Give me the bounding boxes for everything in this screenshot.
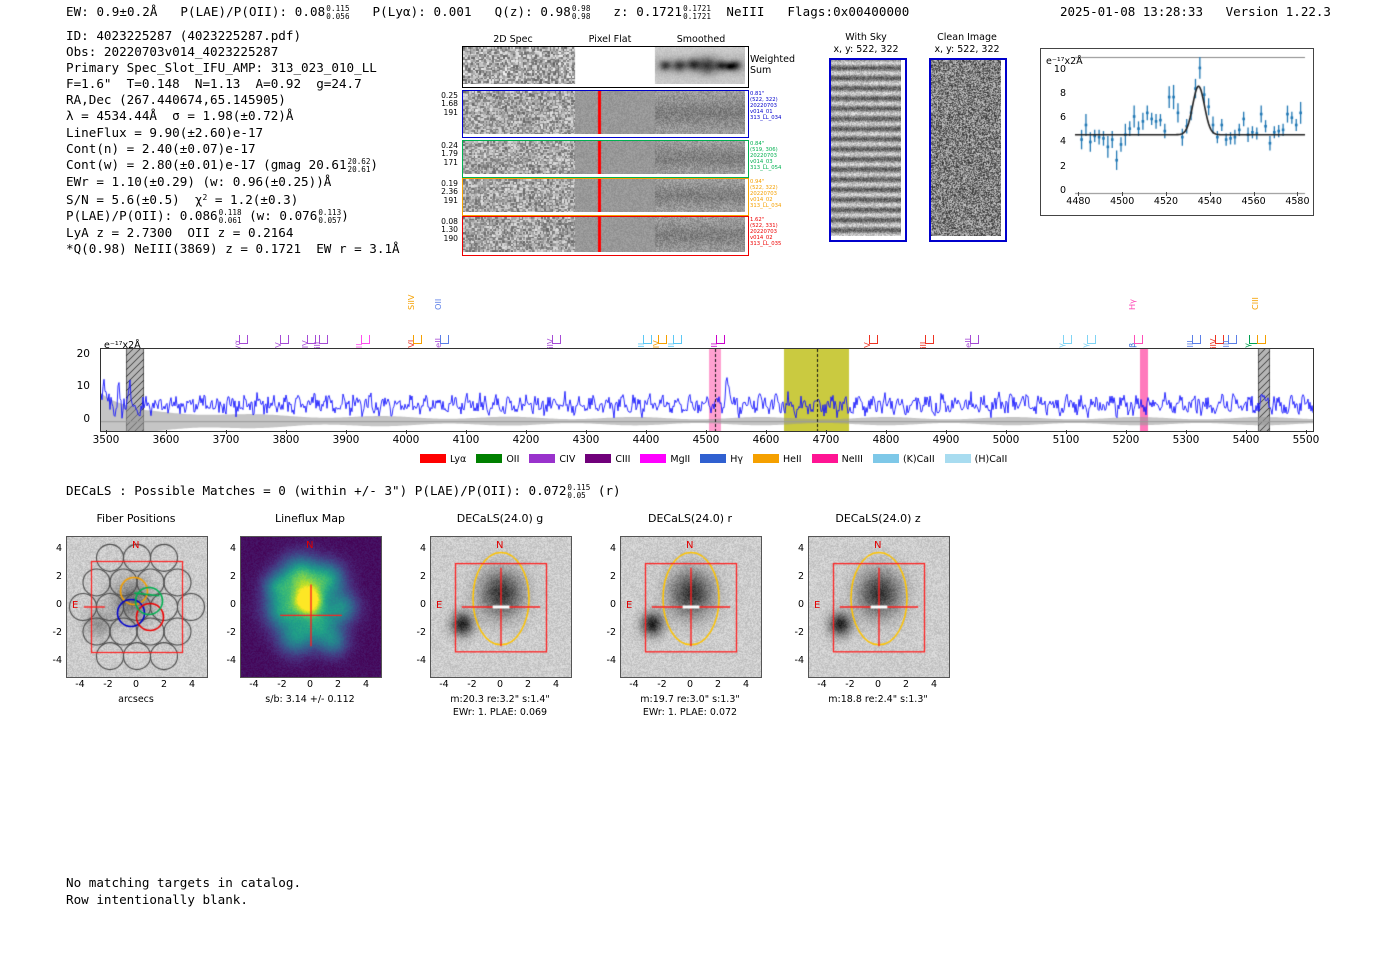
zoom-y-tick: 10 — [1036, 64, 1066, 75]
legend-swatch — [812, 454, 838, 463]
cutout-caption-secondary: EWr: 1. PLAE: 0.069 — [400, 707, 600, 719]
footer-line2: Row intentionally blank. — [66, 892, 248, 907]
info-seeing: F=1.6" T=0.148 N=1.13 A=0.92 g=24.7 — [66, 76, 362, 91]
legend-label: (H)CaII — [975, 454, 1008, 465]
zoom-y-tick: 0 — [1036, 185, 1066, 196]
footer-note: No matching targets in catalog. Row inte… — [66, 874, 301, 908]
spectrum-x-tickmark — [826, 430, 827, 434]
cutout-y-tick: -2 — [44, 627, 62, 638]
legend-item: NeIII — [812, 454, 863, 465]
cutout-x-tick: -2 — [460, 679, 484, 690]
zoom-spectrum-plot — [1040, 48, 1314, 216]
header-plae-poii: P(LAE)/P(OII): 0.08 — [180, 4, 325, 19]
legend-item: CIV — [529, 454, 575, 465]
cutout-x-tick: 4 — [180, 679, 204, 690]
info-cont-n: Cont(n) = 2.40(±0.07)e-17 — [66, 141, 256, 156]
info-ewr: EWr = 1.10(±0.29) (w: 0.96(±0.25))Å — [66, 174, 331, 189]
cutout-y-tick: -4 — [598, 655, 616, 666]
spectrum-x-tickmark — [946, 430, 947, 434]
spectrum-x-tickmark — [526, 430, 527, 434]
legend-swatch — [945, 454, 971, 463]
cutout-y-tick: 0 — [786, 599, 804, 610]
cutout-x-tick: 2 — [894, 679, 918, 690]
emission-line-label: SiIV — [406, 295, 416, 311]
emission-line-bracket — [413, 335, 422, 344]
spectrum-y-tick: 10 — [66, 380, 90, 392]
zoom-x-tickmark — [1210, 192, 1211, 196]
fiber-2d-spectrum — [462, 178, 749, 216]
spec2d-title-2dspec: 2D Spec — [478, 34, 548, 45]
cutout-caption-primary: m:20.3 re:3.2" s:1.4" — [400, 694, 600, 706]
cutout-panel-title: Fiber Positions — [46, 512, 226, 525]
emission-line-bracket — [925, 335, 934, 344]
cutout-y-tick: -2 — [786, 627, 804, 638]
cutout-panel-image — [66, 536, 208, 678]
spectrum-legend: LyαOIICIVCIIIMgIIHγHeIINeIII(K)CaII(H)Ca… — [420, 447, 1017, 466]
cutout-y-tick: 4 — [408, 543, 426, 554]
spectrum-x-tick: 4800 — [863, 434, 909, 446]
spectrum-x-tickmark — [106, 430, 107, 434]
spec2d-title-smoothed: Smoothed — [663, 34, 739, 45]
cutout-y-tick: 2 — [408, 571, 426, 582]
spectrum-y-tick: 20 — [66, 348, 90, 360]
cutout-y-tick: -2 — [218, 627, 236, 638]
fiber-stat-value: 191 — [426, 197, 458, 205]
header-version: Version 1.22.3 — [1226, 4, 1331, 19]
cutout-panel-image — [430, 536, 572, 678]
cutout-y-tick: 0 — [44, 599, 62, 610]
zoom-y-tick: 8 — [1036, 88, 1066, 99]
spectrum-x-tick: 4600 — [743, 434, 789, 446]
zoom-x-tick: 4520 — [1146, 196, 1186, 207]
decals-match-line: DECaLS : Possible Matches = 0 (within +/… — [66, 483, 621, 500]
cutout-y-tick: 0 — [408, 599, 426, 610]
spectrum-x-tick: 3900 — [323, 434, 369, 446]
emission-line-bracket — [1228, 335, 1237, 344]
legend-label: HeII — [783, 454, 802, 465]
zoom-y-tick: 4 — [1036, 136, 1066, 147]
compass-north-label: N — [874, 540, 881, 551]
cutout-x-tick: -2 — [96, 679, 120, 690]
cutout-xlabel: arcsecs — [66, 694, 206, 706]
weighted-sum-strip — [462, 46, 749, 88]
spectrum-x-tickmark — [1306, 430, 1307, 434]
spectrum-x-tickmark — [766, 430, 767, 434]
cutout-x-tick: -2 — [838, 679, 862, 690]
spectrum-x-tickmark — [346, 430, 347, 434]
spectrum-unit-label: e⁻¹⁷x2Å — [104, 340, 141, 351]
spectrum-y-tick: 0 — [66, 413, 90, 425]
header-z-range: 0.17210.1721 — [683, 5, 711, 21]
spectrum-x-tick: 3500 — [83, 434, 129, 446]
full-spectrum-plot — [100, 348, 1314, 432]
fiber-row-annotation: 0.81"(522, 322)20220703v014_01313_LL_034 — [750, 91, 806, 121]
cutout-x-tick: 0 — [488, 679, 512, 690]
spectrum-x-tickmark — [1126, 430, 1127, 434]
spectrum-x-tick: 3800 — [263, 434, 309, 446]
emission-line-bracket — [1063, 335, 1072, 344]
legend-swatch — [476, 454, 502, 463]
cutout-panel-image — [808, 536, 950, 678]
spectrum-x-tickmark — [286, 430, 287, 434]
emission-line-bracket — [440, 335, 449, 344]
spectrum-x-tick: 4700 — [803, 434, 849, 446]
info-spec-slot: Primary Spec_Slot_IFU_AMP: 313_023_010_L… — [66, 60, 377, 75]
cutout-y-tick: -2 — [408, 627, 426, 638]
cutout-x-tick: -4 — [622, 679, 646, 690]
info-obs: Obs: 20220703v014_4023225287 — [66, 44, 278, 59]
spectrum-x-tick: 5500 — [1283, 434, 1329, 446]
legend-label: NeIII — [842, 454, 863, 465]
header-summary-line: EW: 0.9±0.2Å P(LAE)/P(OII): 0.080.1150.0… — [66, 4, 909, 21]
legend-label: (K)CaII — [903, 454, 935, 465]
footer-line1: No matching targets in catalog. — [66, 875, 301, 890]
cutout-y-tick: 2 — [44, 571, 62, 582]
zoom-x-tickmark — [1254, 192, 1255, 196]
fiber-row-annotation: 0.84"(519, 306)20220703v014_03313_LL_054 — [750, 141, 806, 171]
cutout-panel-image — [620, 536, 762, 678]
spectrum-x-tick: 4400 — [623, 434, 669, 446]
emission-line-label: CIII — [1250, 297, 1260, 310]
compass-east-label: E — [72, 600, 78, 611]
emission-line-bracket — [970, 335, 979, 344]
zoom-y-tick: 2 — [1036, 161, 1066, 172]
info-snr: S/N = 5.6(±0.5) χ2 = 1.2(±0.3) — [66, 192, 298, 207]
legend-label: Hγ — [730, 454, 743, 465]
spectrum-x-tick: 5400 — [1223, 434, 1269, 446]
fiber-row-annotation: 1.62"(522, 331)20220703v014_02313_LL_035 — [750, 217, 806, 247]
zoom-x-tick: 4540 — [1190, 196, 1230, 207]
cutout-panel-image — [240, 536, 382, 678]
emission-line-bracket — [552, 335, 561, 344]
spectrum-x-tickmark — [586, 430, 587, 434]
legend-label: Lyα — [450, 454, 466, 465]
legend-label: CIV — [559, 454, 575, 465]
cutout-x-tick: -4 — [242, 679, 266, 690]
fiber-stat-value: 171 — [426, 159, 458, 167]
fiber-2d-spectrum — [462, 90, 749, 138]
fiber-2d-spectrum — [462, 216, 749, 256]
emission-line-label: OII — [433, 299, 443, 310]
fiber-2d-spectrum — [462, 140, 749, 178]
spectrum-x-tickmark — [406, 430, 407, 434]
compass-east-label: E — [814, 600, 820, 611]
zoom-x-tickmark — [1166, 192, 1167, 196]
emission-line-bracket — [1087, 335, 1096, 344]
cutout-y-tick: 2 — [598, 571, 616, 582]
cutout-y-tick: -4 — [786, 655, 804, 666]
emission-line-bracket — [1257, 335, 1266, 344]
fiber-annotation-line: 313_LL_035 — [750, 241, 806, 247]
legend-label: CIII — [615, 454, 630, 465]
fiber-row-stats: 0.081.30190 — [426, 218, 458, 243]
compass-north-label: N — [686, 540, 693, 551]
emission-line-bracket — [361, 335, 370, 344]
zoom-x-tick: 4560 — [1234, 196, 1274, 207]
cutout-y-tick: -2 — [598, 627, 616, 638]
cutout-y-tick: 0 — [598, 599, 616, 610]
legend-item: OII — [476, 454, 519, 465]
cutout-caption-primary: s/b: 3.14 +/- 0.112 — [210, 694, 410, 706]
fiber-row-stats: 0.192.36191 — [426, 180, 458, 205]
spec2d-title-pixelflat: Pixel Flat — [572, 34, 648, 45]
cutout-x-tick: 0 — [124, 679, 148, 690]
spectrum-x-tickmark — [886, 430, 887, 434]
spectrum-x-tick: 4000 — [383, 434, 429, 446]
cutout-y-tick: 0 — [218, 599, 236, 610]
legend-item: HeII — [753, 454, 802, 465]
cleanimage-label: Clean Image x, y: 522, 322 — [912, 32, 1022, 55]
spectrum-x-tickmark — [1246, 430, 1247, 434]
legend-swatch — [753, 454, 779, 463]
info-plae-poii: P(LAE)/P(OII): 0.0860.1180.061 (w: 0.076… — [66, 208, 349, 223]
cutout-y-tick: 4 — [218, 543, 236, 554]
compass-east-label: E — [436, 600, 442, 611]
spectrum-x-tick: 4900 — [923, 434, 969, 446]
cutout-x-tick: 2 — [152, 679, 176, 690]
zoom-y-tick: 6 — [1036, 112, 1066, 123]
spectrum-x-tick: 4300 — [563, 434, 609, 446]
info-redshifts: LyA z = 2.7300 OII z = 0.2164 — [66, 225, 293, 240]
cutout-x-tick: 0 — [298, 679, 322, 690]
header-redshift: z: 0.1721 — [613, 4, 682, 19]
header-species: NeIII — [726, 4, 764, 19]
cutout-y-tick: -4 — [408, 655, 426, 666]
cutout-x-tick: -2 — [270, 679, 294, 690]
info-lineflux: LineFlux = 9.90(±2.60)e-17 — [66, 125, 263, 140]
cutout-x-tick: 2 — [326, 679, 350, 690]
cutout-x-tick: 4 — [734, 679, 758, 690]
spectrum-x-tick: 5100 — [1043, 434, 1089, 446]
legend-item: Hγ — [700, 454, 743, 465]
info-cont-w: Cont(w) = 2.80(±0.01)e-17 (gmag 20.6120.… — [66, 157, 378, 172]
header-qz: Q(z): 0.98 — [495, 4, 571, 19]
source-info-block: ID: 4023225287 (4023225287.pdf) Obs: 202… — [66, 28, 400, 257]
cutout-x-tick: 0 — [866, 679, 890, 690]
withsky-image — [829, 58, 907, 242]
cutout-caption-primary: m:19.7 re:3.0" s:1.3" — [590, 694, 790, 706]
info-best-solution: *Q(0.98) NeIII(3869) z = 0.1721 EW r = 3… — [66, 241, 400, 256]
cutout-y-tick: -4 — [44, 655, 62, 666]
spectrum-x-tick: 4200 — [503, 434, 549, 446]
compass-north-label: N — [496, 540, 503, 551]
cutout-x-tick: 0 — [678, 679, 702, 690]
header-meta: 2025-01-08 13:28:33 Version 1.22.3 — [1060, 4, 1331, 19]
header-flags: Flags:0x00400000 — [787, 4, 909, 19]
cutout-caption-secondary: EWr: 1. PLAE: 0.072 — [590, 707, 790, 719]
emission-line-bracket — [280, 335, 289, 344]
cutout-x-tick: -4 — [68, 679, 92, 690]
spectrum-x-tick: 5000 — [983, 434, 1029, 446]
cutout-y-tick: 2 — [218, 571, 236, 582]
legend-item: Lyα — [420, 454, 466, 465]
spectrum-x-tickmark — [1006, 430, 1007, 434]
spectrum-x-tick: 3600 — [143, 434, 189, 446]
compass-north-label: N — [132, 540, 139, 551]
spectrum-x-tickmark — [706, 430, 707, 434]
zoom-x-tickmark — [1078, 192, 1079, 196]
fiber-row-stats: 0.241.79171 — [426, 142, 458, 167]
cutout-y-tick: 4 — [598, 543, 616, 554]
spectrum-x-tickmark — [1186, 430, 1187, 434]
zoom-x-tickmark — [1297, 192, 1298, 196]
legend-swatch — [585, 454, 611, 463]
emission-line-label: Hγ — [1127, 299, 1137, 310]
emission-line-bracket — [869, 335, 878, 344]
fiber-annotation-line: 313_LL_034 — [750, 115, 806, 121]
withsky-label: With Sky x, y: 522, 322 — [818, 32, 914, 55]
cutout-caption-primary: m:18.8 re:2.4" s:1.3" — [778, 694, 978, 706]
legend-label: OII — [506, 454, 519, 465]
header-ew: EW: 0.9±0.2Å — [66, 4, 158, 19]
cutout-panel-title: Lineflux Map — [220, 512, 400, 525]
cutout-panel-title: DECaLS(24.0) r — [600, 512, 780, 525]
legend-item: (K)CaII — [873, 454, 935, 465]
fiber-annotation-line: 313_LL_054 — [750, 165, 806, 171]
emission-line-bracket — [716, 335, 725, 344]
legend-swatch — [873, 454, 899, 463]
legend-item: CIII — [585, 454, 630, 465]
zoom-x-tickmark — [1122, 192, 1123, 196]
emission-line-bracket — [239, 335, 248, 344]
spectrum-x-tick: 4100 — [443, 434, 489, 446]
header-plae-range: 0.1150.056 — [326, 5, 349, 21]
legend-label: MgII — [670, 454, 690, 465]
emission-line-bracket — [673, 335, 682, 344]
compass-east-label: E — [626, 600, 632, 611]
info-id: ID: 4023225287 (4023225287.pdf) — [66, 28, 301, 43]
spectrum-x-tickmark — [226, 430, 227, 434]
spectrum-x-tickmark — [1066, 430, 1067, 434]
cleanimage-image — [929, 58, 1007, 242]
spectrum-x-tickmark — [646, 430, 647, 434]
fiber-row-stats: 0.251.68191 — [426, 92, 458, 117]
spectrum-x-tickmark — [466, 430, 467, 434]
spectrum-x-tick: 5200 — [1103, 434, 1149, 446]
cutout-x-tick: 4 — [354, 679, 378, 690]
info-wavelength: λ = 4534.44Å σ = 1.98(±0.72)Å — [66, 108, 293, 123]
fiber-row-annotation: 0.94"(522, 322)20220703v014_02313_LL_034 — [750, 179, 806, 209]
spectrum-x-tick: 3700 — [203, 434, 249, 446]
legend-swatch — [700, 454, 726, 463]
emission-line-bracket — [319, 335, 328, 344]
info-radec: RA,Dec (267.440674,65.145905) — [66, 92, 286, 107]
fiber-stat-value: 191 — [426, 109, 458, 117]
header-timestamp: 2025-01-08 13:28:33 — [1060, 4, 1203, 19]
weighted-sum-label: Weighted Sum — [750, 54, 795, 76]
fiber-stat-value: 190 — [426, 235, 458, 243]
fiber-annotation-line: 313_LL_034 — [750, 203, 806, 209]
legend-item: (H)CaII — [945, 454, 1008, 465]
cutout-y-tick: -4 — [218, 655, 236, 666]
cutout-x-tick: -4 — [810, 679, 834, 690]
decals-plae-range: 0.1150.05 — [567, 484, 590, 500]
emission-line-bracket — [1134, 335, 1143, 344]
spectrum-x-tick: 5300 — [1163, 434, 1209, 446]
cutout-x-tick: 2 — [516, 679, 540, 690]
zoom-x-tick: 4500 — [1102, 196, 1142, 207]
cutout-y-tick: 4 — [786, 543, 804, 554]
zoom-x-tick: 4580 — [1277, 196, 1317, 207]
cutout-panel-title: DECaLS(24.0) g — [410, 512, 590, 525]
spectrum-x-tickmark — [166, 430, 167, 434]
cutout-x-tick: -4 — [432, 679, 456, 690]
legend-swatch — [529, 454, 555, 463]
header-qz-range: 0.980.98 — [572, 5, 591, 21]
compass-north-label: N — [306, 540, 313, 551]
cutout-x-tick: -2 — [650, 679, 674, 690]
zoom-x-tick: 4480 — [1058, 196, 1098, 207]
cutout-x-tick: 4 — [922, 679, 946, 690]
cutout-y-tick: 2 — [786, 571, 804, 582]
legend-item: MgII — [640, 454, 690, 465]
cutout-panel-title: DECaLS(24.0) z — [788, 512, 968, 525]
header-plya: P(Lyα): 0.001 — [373, 4, 472, 19]
cutout-x-tick: 4 — [544, 679, 568, 690]
cutout-x-tick: 2 — [706, 679, 730, 690]
legend-swatch — [420, 454, 446, 463]
legend-swatch — [640, 454, 666, 463]
cutout-y-tick: 4 — [44, 543, 62, 554]
spectrum-x-tick: 4500 — [683, 434, 729, 446]
emission-line-bracket — [1192, 335, 1201, 344]
